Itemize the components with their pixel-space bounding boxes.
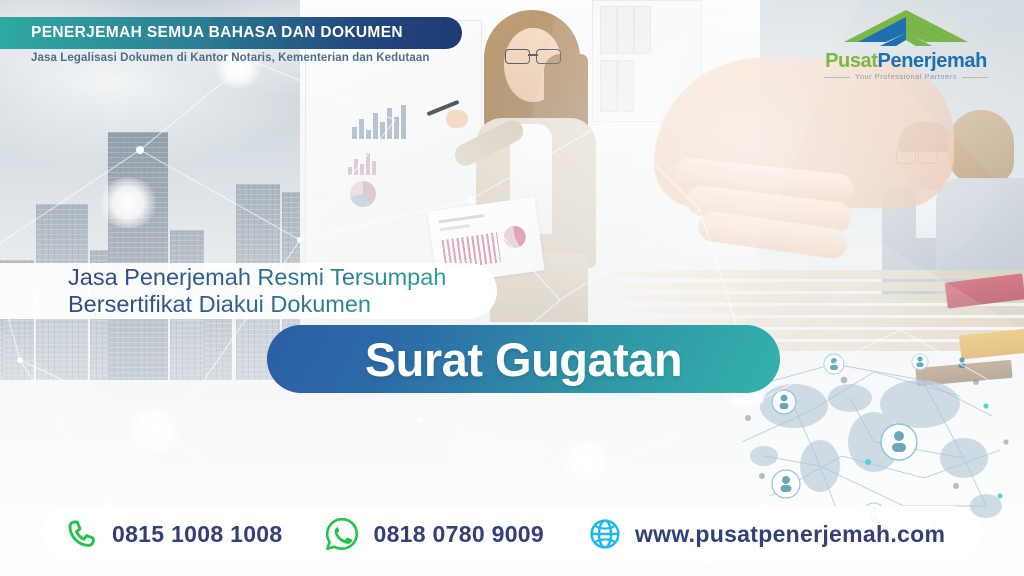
headline-subtext: Jasa Legalisasi Dokumen di Kantor Notari… [31, 52, 429, 64]
whatsapp-icon [324, 516, 360, 552]
logo-tagline: Your Professional Partners [855, 72, 957, 81]
contact-website[interactable]: www.pusatpenerjemah.com [588, 517, 945, 551]
glow-node [560, 440, 614, 484]
subtitle-line-2: Bersertifikat Diakui Dokumen [0, 291, 497, 318]
whatsapp-number: 0818 0780 9009 [373, 521, 543, 548]
logo-wordmark: PusatPenerjemah [806, 50, 1006, 73]
phone-handset-icon [65, 517, 99, 551]
marketing-banner: PENERJEMAH SEMUA BAHASA DAN DOKUMEN Jasa… [0, 0, 1024, 576]
headline-ribbon: PENERJEMAH SEMUA BAHASA DAN DOKUMEN [0, 17, 462, 49]
contact-phone[interactable]: 0815 1008 1008 [65, 517, 282, 551]
subtitle-line-1: Jasa Penerjemah Resmi Tersumpah [0, 264, 497, 291]
title-banner: Surat Gugatan [267, 325, 780, 393]
contact-bar: 0815 1008 1008 0818 0780 9009 [42, 506, 982, 562]
logo-word-pusat: Pusat [825, 50, 877, 72]
website-url: www.pusatpenerjemah.com [635, 521, 945, 548]
logo-tagline-row: Your Professional Partners [806, 72, 1006, 81]
glow-node [124, 406, 184, 454]
phone-number: 0815 1008 1008 [112, 521, 282, 548]
glow-node [96, 178, 160, 228]
logo-word-penerjemah: Penerjemah [878, 50, 987, 72]
tagline-rule-left [824, 77, 850, 78]
headline-text: PENERJEMAH SEMUA BAHASA DAN DOKUMEN [0, 24, 403, 42]
brand-logo[interactable]: PusatPenerjemah Your Professional Partne… [806, 8, 1006, 84]
globe-icon [588, 517, 622, 551]
page-title: Surat Gugatan [267, 325, 780, 393]
contact-whatsapp[interactable]: 0818 0780 9009 [324, 516, 543, 552]
subtitle-panel: Jasa Penerjemah Resmi Tersumpah Berserti… [0, 263, 497, 319]
building-roof-chevrons-icon [842, 8, 970, 48]
tagline-rule-right [962, 77, 988, 78]
